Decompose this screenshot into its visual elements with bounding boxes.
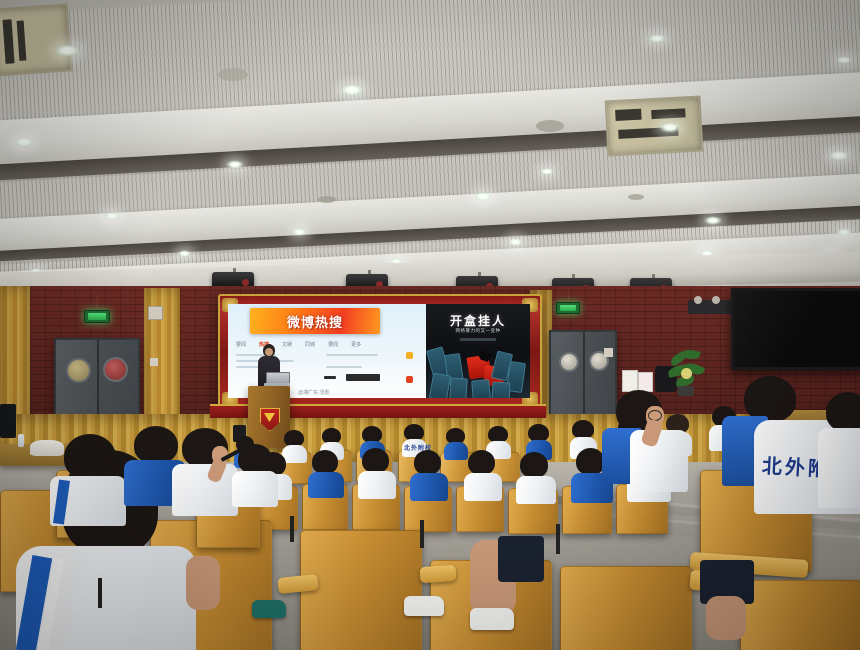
seat-right-lower[interactable]: [740, 580, 860, 650]
slide-nav-item-2: 文娱: [282, 341, 292, 348]
presenter-laptop: [264, 372, 290, 387]
white-cap: [30, 440, 64, 456]
slide-dark-panel: 开盒挂人 网络暴力的又一变种: [426, 304, 530, 398]
ceiling-air-vent: [0, 3, 72, 76]
weibo-hotsearch-logo: 微博热搜: [250, 308, 380, 334]
water-bottle: [18, 434, 24, 447]
slide-nav-item-3: 同城: [305, 341, 315, 348]
monitor-back-left: [0, 404, 16, 438]
seat-center-front[interactable]: [300, 530, 422, 650]
stage-poster-1: [622, 370, 638, 392]
wall-outlet-left[interactable]: [150, 358, 158, 366]
weibo-logo-text: 微博热搜: [287, 312, 343, 331]
slide-nav-item-4: 要闻: [328, 341, 338, 348]
plant-pot: [678, 386, 694, 396]
slide-footer-text: @湘广东·活影: [298, 389, 330, 396]
door-right[interactable]: [549, 330, 617, 424]
plant-flower: [681, 368, 692, 379]
door-window-left-2: [559, 352, 579, 372]
wall-outlet-right[interactable]: [604, 348, 613, 357]
door-window-left: [66, 358, 91, 383]
slide-dark-title: 开盒挂人: [426, 312, 530, 329]
armrest-center-2: [419, 565, 456, 583]
slide-nav-item-0: 要闻: [236, 341, 246, 348]
door-window-right: [103, 357, 128, 382]
stage-poster-2: [638, 372, 653, 392]
auditorium-photo: 微博热搜 要闻 热搜 文娱 同城 要闻 更多 @: [0, 0, 860, 650]
slide-dark-subtitle: 网络暴力的又一变种: [426, 328, 530, 334]
slide-nav-item-5: 更多: [351, 341, 361, 348]
seat-center-front-3[interactable]: [560, 566, 692, 650]
wall-switch-plate-left[interactable]: [148, 306, 163, 320]
exit-sign-right: [556, 302, 580, 314]
ceiling-ac-unit: [605, 96, 704, 157]
wall-bracket: [694, 296, 702, 304]
school-crest: [260, 408, 280, 431]
wall-display[interactable]: [731, 288, 860, 370]
exit-sign-left: [84, 310, 110, 323]
wall-bracket-2: [712, 296, 720, 304]
